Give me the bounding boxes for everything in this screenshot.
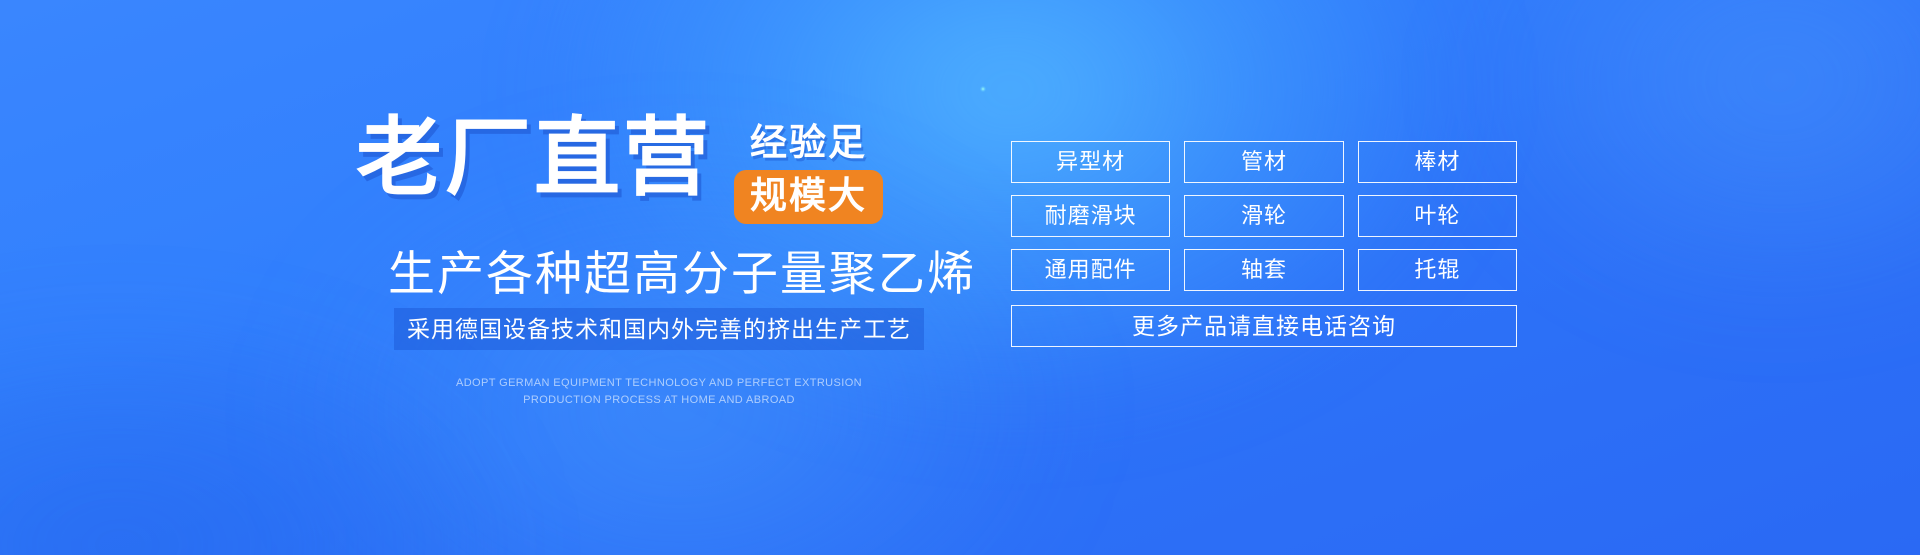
product-chip-idler-roller[interactable]: 托辊 (1358, 249, 1517, 291)
background-glow-top-right (1460, 0, 1920, 320)
product-chip-wear-slider[interactable]: 耐磨滑块 (1011, 195, 1170, 237)
headline-main: 老厂直营 (356, 112, 712, 204)
product-chip-profile[interactable]: 异型材 (1011, 141, 1170, 183)
headline-badge-experience: 经验足 (750, 122, 867, 164)
banner-subtitle-english-line1: ADOPT GERMAN EQUIPMENT TECHNOLOGY AND PE… (394, 375, 924, 392)
banner-tagline-bar: 采用德国设备技术和国内外完善的挤出生产工艺 (394, 308, 924, 350)
banner-subheadline: 生产各种超高分子量聚乙烯 (388, 247, 976, 301)
banner-tagline-text: 采用德国设备技术和国内外完善的挤出生产工艺 (407, 316, 911, 342)
product-chip-pulley[interactable]: 滑轮 (1184, 195, 1343, 237)
product-chip-pipe[interactable]: 管材 (1184, 141, 1343, 183)
more-products-cta-button[interactable]: 更多产品请直接电话咨询 (1011, 305, 1517, 347)
headline-badge-scale: 规模大 (734, 170, 883, 224)
headline-row: 老厂直营 经验足 规模大 (356, 112, 883, 224)
banner-subtitle-english: ADOPT GERMAN EQUIPMENT TECHNOLOGY AND PE… (394, 375, 924, 409)
product-chip-general-parts[interactable]: 通用配件 (1011, 249, 1170, 291)
product-chip-bushing[interactable]: 轴套 (1184, 249, 1343, 291)
banner-subtitle-english-line2: PRODUCTION PROCESS AT HOME AND ABROAD (394, 392, 924, 409)
headline-badge-group: 经验足 规模大 (734, 122, 883, 224)
product-chip-rod[interactable]: 棒材 (1358, 141, 1517, 183)
promo-banner: 老厂直营 经验足 规模大 生产各种超高分子量聚乙烯 采用德国设备技术和国内外完善… (0, 0, 1920, 555)
product-chip-impeller[interactable]: 叶轮 (1358, 195, 1517, 237)
product-category-panel: 异型材 管材 棒材 耐磨滑块 滑轮 叶轮 通用配件 轴套 托辊 更多产品请直接电… (1011, 141, 1517, 347)
banner-copy-block: 老厂直营 经验足 规模大 生产各种超高分子量聚乙烯 采用德国设备技术和国内外完善… (0, 0, 1000, 555)
product-category-grid: 异型材 管材 棒材 耐磨滑块 滑轮 叶轮 通用配件 轴套 托辊 (1011, 141, 1517, 291)
